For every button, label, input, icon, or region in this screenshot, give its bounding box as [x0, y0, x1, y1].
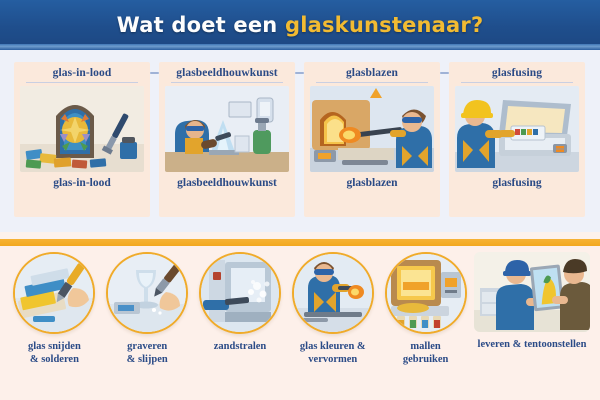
caption-rule — [461, 82, 573, 83]
panel-glasbeeldhouwkunst[interactable]: glasbeeldhouwkunst — [159, 62, 295, 217]
step-label: glas snijden & solderen — [28, 341, 81, 366]
stained-glass-window-art — [20, 86, 144, 172]
panel-caption-bottom: glasfusing — [492, 177, 541, 189]
top-section: ⬇⬇ glas-in-lood — [0, 50, 600, 232]
step-glas-snijden-solderen[interactable]: glas snijden & solderen — [10, 252, 99, 366]
panel-glasfusing[interactable]: glasfusing — [449, 62, 585, 217]
section-divider — [0, 239, 600, 246]
dash-icon — [440, 72, 449, 74]
step-label: mallen gebruiken — [403, 341, 449, 366]
dash-icon — [150, 72, 159, 74]
fusing-kiln-art — [455, 86, 579, 172]
step-label: graveren & slijpen — [127, 341, 168, 366]
engraving-grinding-icon — [106, 252, 188, 334]
glass-cutting-soldering-icon — [13, 252, 95, 334]
panel-caption-top: glasfusing — [492, 67, 542, 80]
step-mallen-gebruiken[interactable]: mallen gebruiken — [381, 252, 470, 366]
step-glas-kleuren-vervormen[interactable]: glas kleuren & vervormen — [288, 252, 377, 366]
panel-caption-top: glasbeeldhouwkunst — [176, 67, 278, 80]
glassblowing-furnace-art — [310, 86, 434, 172]
bottom-section: glas snijden & solderen — [0, 246, 600, 400]
panel-caption-bottom: glasbeeldhouwkunst — [177, 177, 277, 189]
glass-sculptor-art — [165, 86, 289, 172]
step-leveren-tentoonstellen[interactable]: leveren & tentoonstellen — [474, 252, 590, 352]
top-panel-row: glas-in-lood — [14, 62, 586, 217]
caption-rule — [171, 82, 283, 83]
step-label: leveren & tentoonstellen — [478, 339, 587, 352]
infographic-poster: Wat doet een glaskunstenaar? ⬇⬇ glas-in-… — [0, 0, 600, 400]
panel-caption-top: glasblazen — [346, 67, 398, 80]
step-graveren-slijpen[interactable]: graveren & slijpen — [103, 252, 192, 366]
step-label: zandstralen — [214, 341, 267, 354]
panel-connector-2 — [295, 62, 304, 217]
page-title: Wat doet een glaskunstenaar? — [117, 13, 484, 37]
panel-caption-bottom: glasblazen — [346, 177, 397, 189]
caption-rule — [316, 82, 428, 83]
panel-glasblazen[interactable]: glasblazen — [304, 62, 440, 217]
title-plain-text: Wat doet een — [117, 13, 285, 37]
delivery-exhibition-icon — [474, 252, 590, 332]
title-accent-text: glaskunstenaar? — [285, 13, 483, 37]
sandblasting-icon — [199, 252, 281, 334]
panel-caption-bottom: glas-in-lood — [53, 177, 111, 189]
process-step-row: glas snijden & solderen — [10, 252, 590, 366]
panel-glas-in-lood[interactable]: glas-in-lood — [14, 62, 150, 217]
poster-header: Wat doet een glaskunstenaar? — [0, 0, 600, 50]
panel-connector-3 — [440, 62, 449, 217]
panel-caption-top: glas-in-lood — [53, 67, 112, 80]
mold-kiln-icon — [385, 252, 467, 334]
dash-icon — [295, 72, 304, 74]
step-label: glas kleuren & vervormen — [300, 341, 366, 366]
panel-connector-1 — [150, 62, 159, 217]
glass-coloring-shaping-icon — [292, 252, 374, 334]
caption-rule — [26, 82, 138, 83]
step-zandstralen[interactable]: zandstralen — [196, 252, 285, 354]
